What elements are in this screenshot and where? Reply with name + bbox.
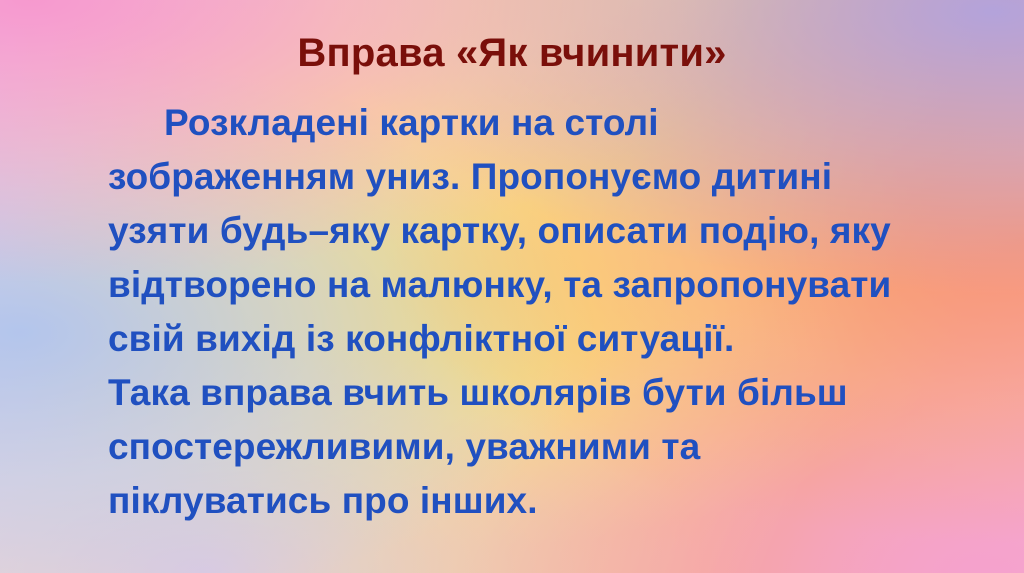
body-line: зображенням униз. Пропонуємо дитині bbox=[108, 150, 968, 204]
slide-body-text: Розкладені картки на столі зображенням у… bbox=[108, 96, 968, 528]
body-line: Розкладені картки на столі bbox=[108, 96, 968, 150]
body-line: спостережливими, уважними та bbox=[108, 420, 968, 474]
presentation-slide: Вправа «Як вчинити» Розкладені картки на… bbox=[0, 0, 1024, 573]
slide-content: Вправа «Як вчинити» Розкладені картки на… bbox=[0, 0, 1024, 573]
body-line: свій вихід із конфліктної ситуації. bbox=[108, 312, 968, 366]
page-title: Вправа «Як вчинити» bbox=[0, 32, 1024, 75]
body-line: Така вправа вчить школярів бути більш bbox=[108, 366, 968, 420]
body-line: узяти будь–яку картку, описати подію, як… bbox=[108, 204, 968, 258]
body-line: відтворено на малюнку, та запропонувати bbox=[108, 258, 968, 312]
body-line: піклуватись про інших. bbox=[108, 474, 968, 528]
